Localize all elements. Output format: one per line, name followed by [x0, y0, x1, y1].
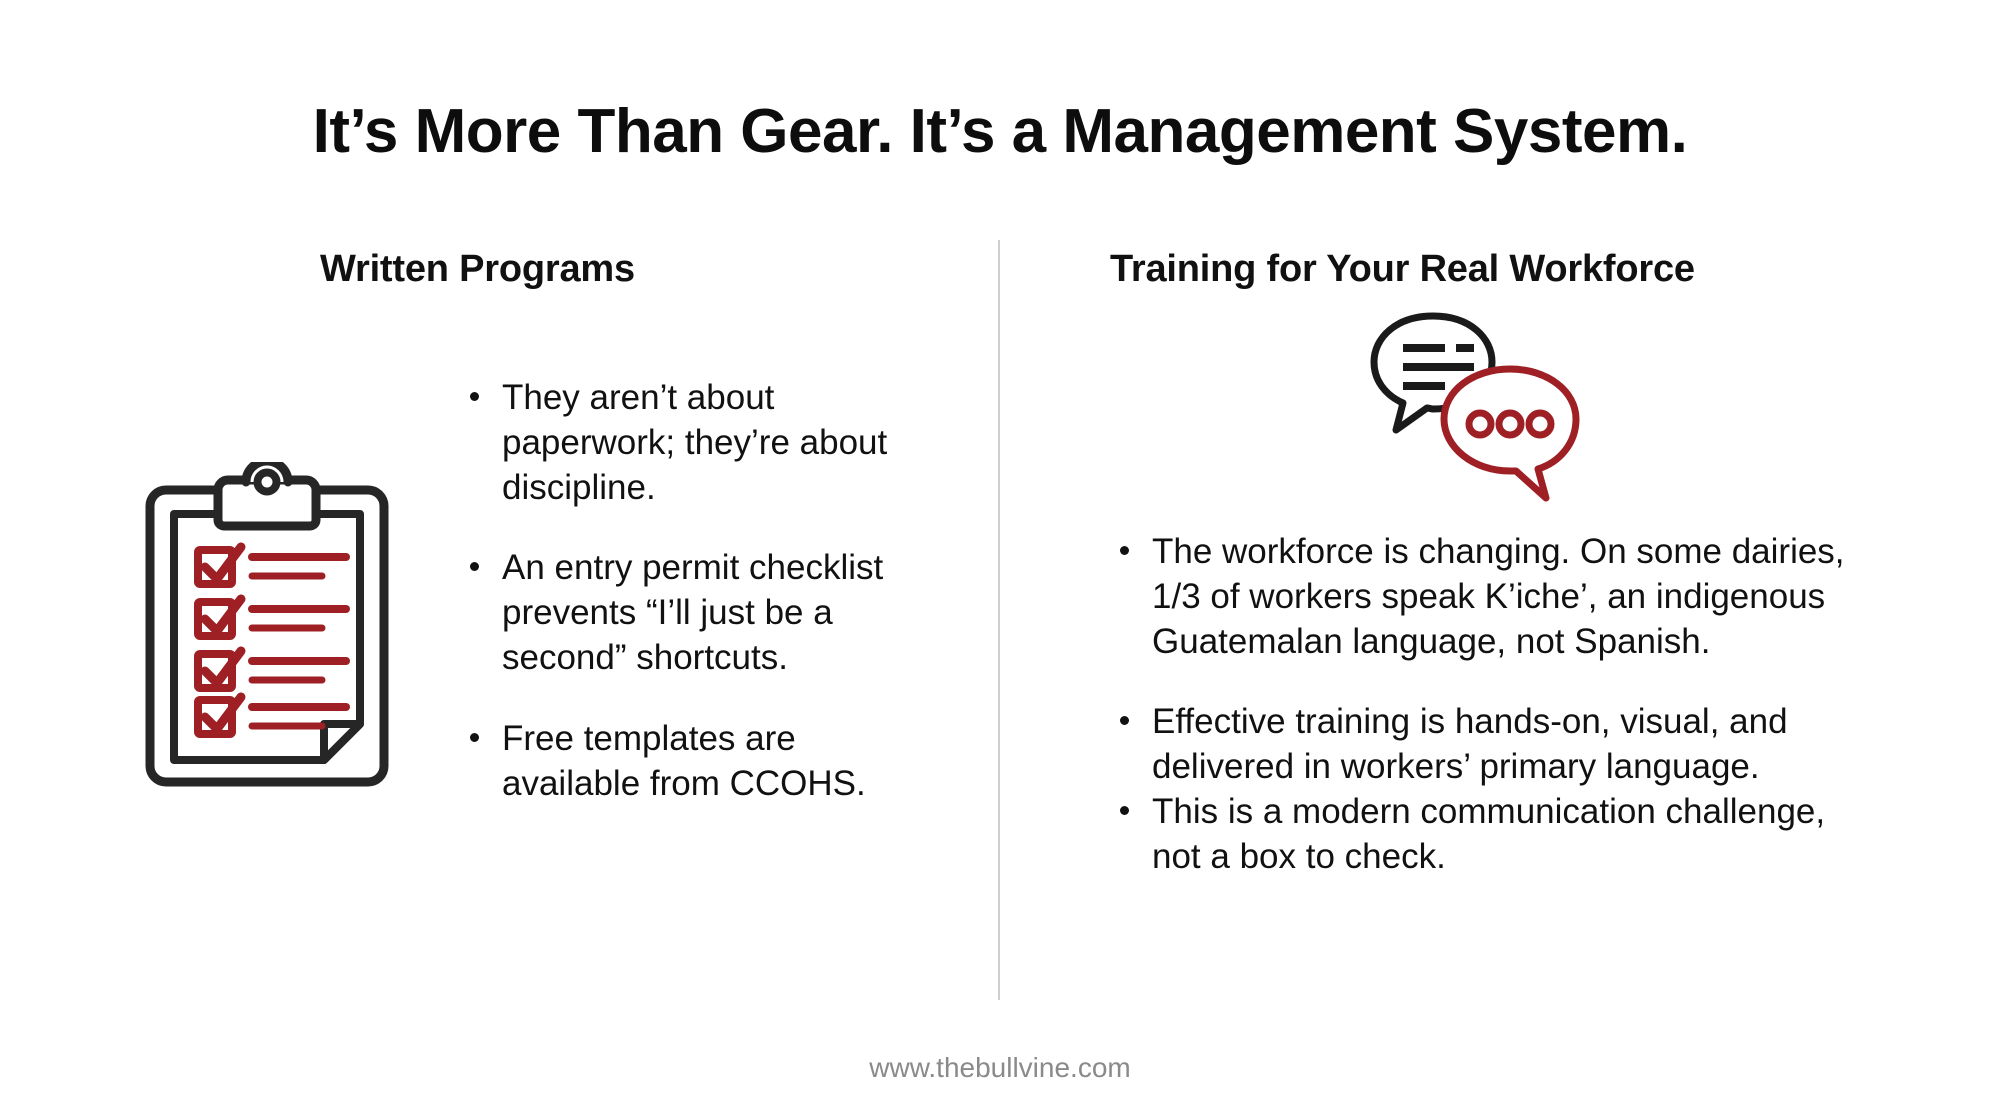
footer-url: www.thebullvine.com [0, 1052, 2000, 1084]
bullet-text: The workforce is changing. On some dairi… [1152, 532, 1845, 661]
list-item: Free templates are available from CCOHS. [462, 717, 932, 807]
bullet-dot-icon [470, 562, 479, 571]
list-item: They aren’t about paperwork; they’re abo… [462, 376, 932, 510]
clipboard-checklist-icon [142, 462, 392, 792]
right-column-heading: Training for Your Real Workforce [1110, 248, 1695, 291]
column-divider [998, 240, 1000, 1000]
left-column-bullet-list: They aren’t about paperwork; they’re abo… [462, 376, 932, 806]
bullet-text: This is a modern communication challenge… [1152, 792, 1825, 876]
bullet-text: Free templates are available from CCOHS. [502, 719, 866, 803]
bullet-dot-icon [470, 733, 479, 742]
bullet-dot-icon [470, 392, 479, 401]
list-item: This is a modern communication challenge… [1112, 790, 1872, 880]
bullet-text: An entry permit checklist prevents “I’ll… [502, 548, 883, 677]
slide-canvas: It’s More Than Gear. It’s a Management S… [0, 0, 2000, 1116]
list-item: Effective training is hands-on, visual, … [1112, 700, 1872, 790]
list-item: An entry permit checklist prevents “I’ll… [462, 546, 932, 680]
bullet-text: They aren’t about paperwork; they’re abo… [502, 378, 887, 507]
bullet-text: Effective training is hands-on, visual, … [1152, 702, 1788, 786]
page-title: It’s More Than Gear. It’s a Management S… [0, 98, 2000, 166]
right-column-bullet-list: The workforce is changing. On some dairi… [1112, 530, 1872, 880]
bullet-dot-icon [1120, 806, 1129, 815]
bullet-dot-icon [1120, 546, 1129, 555]
speech-bubbles-icon [1370, 312, 1585, 502]
list-item: The workforce is changing. On some dairi… [1112, 530, 1872, 664]
left-column-heading: Written Programs [320, 248, 635, 291]
bullet-dot-icon [1120, 716, 1129, 725]
